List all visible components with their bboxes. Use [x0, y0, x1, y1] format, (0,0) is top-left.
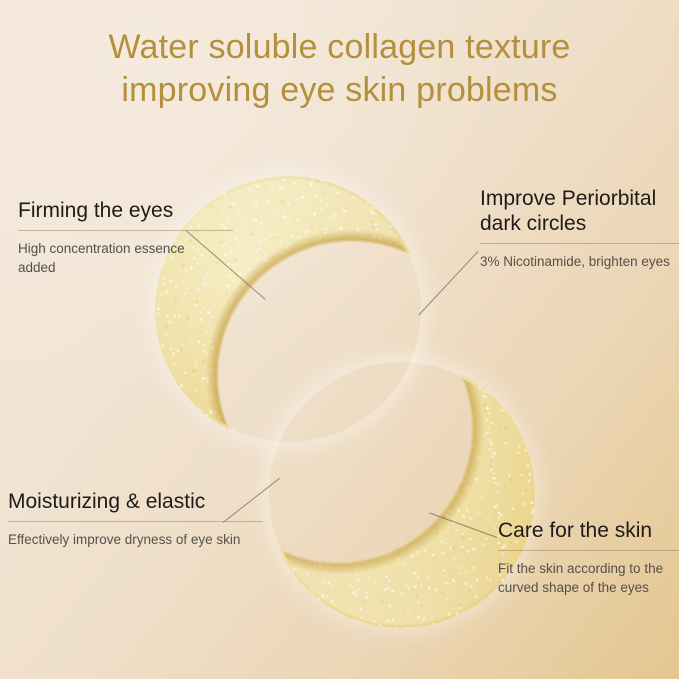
callout-moisturizing: Moisturizing & elastic Effectively impro…	[8, 489, 263, 549]
callout-dark-circles-sub: 3% Nicotinamide, brighten eyes	[480, 252, 679, 271]
product-infographic: Water soluble collagen texture improving…	[0, 0, 679, 679]
callout-firming-heading: Firming the eyes	[18, 198, 233, 223]
callout-dark-circles-heading: Improve Periorbital dark circles	[480, 186, 679, 236]
callout-firming-rule	[18, 230, 233, 231]
callout-moisturizing-rule	[8, 521, 263, 522]
callout-moisturizing-heading: Moisturizing & elastic	[8, 489, 263, 514]
callout-care-sub: Fit the skin according to the curved sha…	[498, 559, 679, 597]
callout-care: Care for the skin Fit the skin according…	[498, 518, 679, 597]
callout-firming: Firming the eyes High concentration esse…	[18, 198, 233, 277]
callout-dark-circles-rule	[480, 243, 679, 244]
callout-moisturizing-sub: Effectively improve dryness of eye skin	[8, 530, 263, 549]
page-title: Water soluble collagen texture improving…	[0, 26, 679, 112]
callout-firming-sub: High concentration essence added	[18, 239, 233, 277]
callout-dark-circles: Improve Periorbital dark circles 3% Nico…	[480, 186, 679, 271]
callout-care-rule	[498, 550, 679, 551]
callout-care-heading: Care for the skin	[498, 518, 679, 543]
